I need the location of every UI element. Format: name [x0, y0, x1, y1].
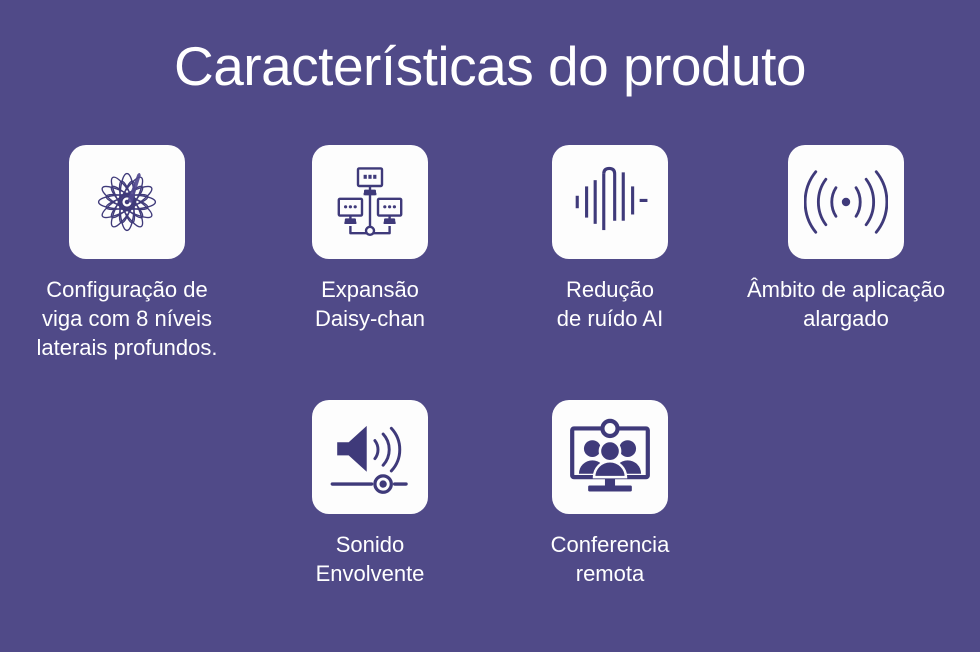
- audio-waveform-icon: [571, 163, 649, 241]
- caption-line: Daisy-chan: [245, 304, 495, 333]
- feature-caption: Conferencia remota: [485, 530, 735, 588]
- feature-icon-tile[interactable]: [312, 145, 428, 259]
- feature-caption: Configuração de viga com 8 níveis latera…: [2, 275, 252, 362]
- speaker-volume-slider-icon: [329, 416, 411, 498]
- caption-line: Conferencia: [485, 530, 735, 559]
- feature-caption: Âmbito de aplicação alargado: [712, 275, 980, 333]
- feature-item-wide-application-scope[interactable]: Âmbito de aplicação alargado: [726, 145, 966, 333]
- caption-line: viga com 8 níveis: [2, 304, 252, 333]
- caption-line: remota: [485, 559, 735, 588]
- caption-line: Configuração de: [2, 275, 252, 304]
- feature-icon-tile[interactable]: [552, 400, 668, 514]
- feature-icon-tile[interactable]: [788, 145, 904, 259]
- network-daisy-chain-icon: [330, 162, 410, 242]
- feature-caption: Redução de ruído AI: [485, 275, 735, 333]
- caption-line: alargado: [712, 304, 980, 333]
- caption-line: de ruído AI: [485, 304, 735, 333]
- caption-line: Sonido: [245, 530, 495, 559]
- feature-icon-tile[interactable]: [312, 400, 428, 514]
- caption-line: Redução: [485, 275, 735, 304]
- feature-item-remote-conference[interactable]: Conferencia remota: [490, 400, 730, 588]
- feature-caption: Expansão Daisy-chan: [245, 275, 495, 333]
- caption-line: Expansão: [245, 275, 495, 304]
- feature-item-beam-configuration[interactable]: Configuração de viga com 8 níveis latera…: [7, 145, 247, 362]
- caption-line: Envolvente: [245, 559, 495, 588]
- feature-icon-tile[interactable]: [69, 145, 185, 259]
- feature-item-ai-noise-reduction[interactable]: Redução de ruído AI: [490, 145, 730, 333]
- caption-line: Âmbito de aplicação: [712, 275, 980, 304]
- caption-line: laterais profundos.: [2, 333, 252, 362]
- page-title: Características do produto: [0, 34, 980, 98]
- feature-item-surround-sound[interactable]: Sonido Envolvente: [250, 400, 490, 588]
- wireless-signal-icon: [804, 160, 888, 244]
- feature-icon-tile[interactable]: [552, 145, 668, 259]
- beam-pattern-icon: [84, 159, 170, 245]
- slide-canvas: Características do produto: [0, 0, 980, 652]
- feature-item-daisy-chain-expansion[interactable]: Expansão Daisy-chan: [250, 145, 490, 333]
- video-conference-icon: [568, 415, 652, 499]
- feature-caption: Sonido Envolvente: [245, 530, 495, 588]
